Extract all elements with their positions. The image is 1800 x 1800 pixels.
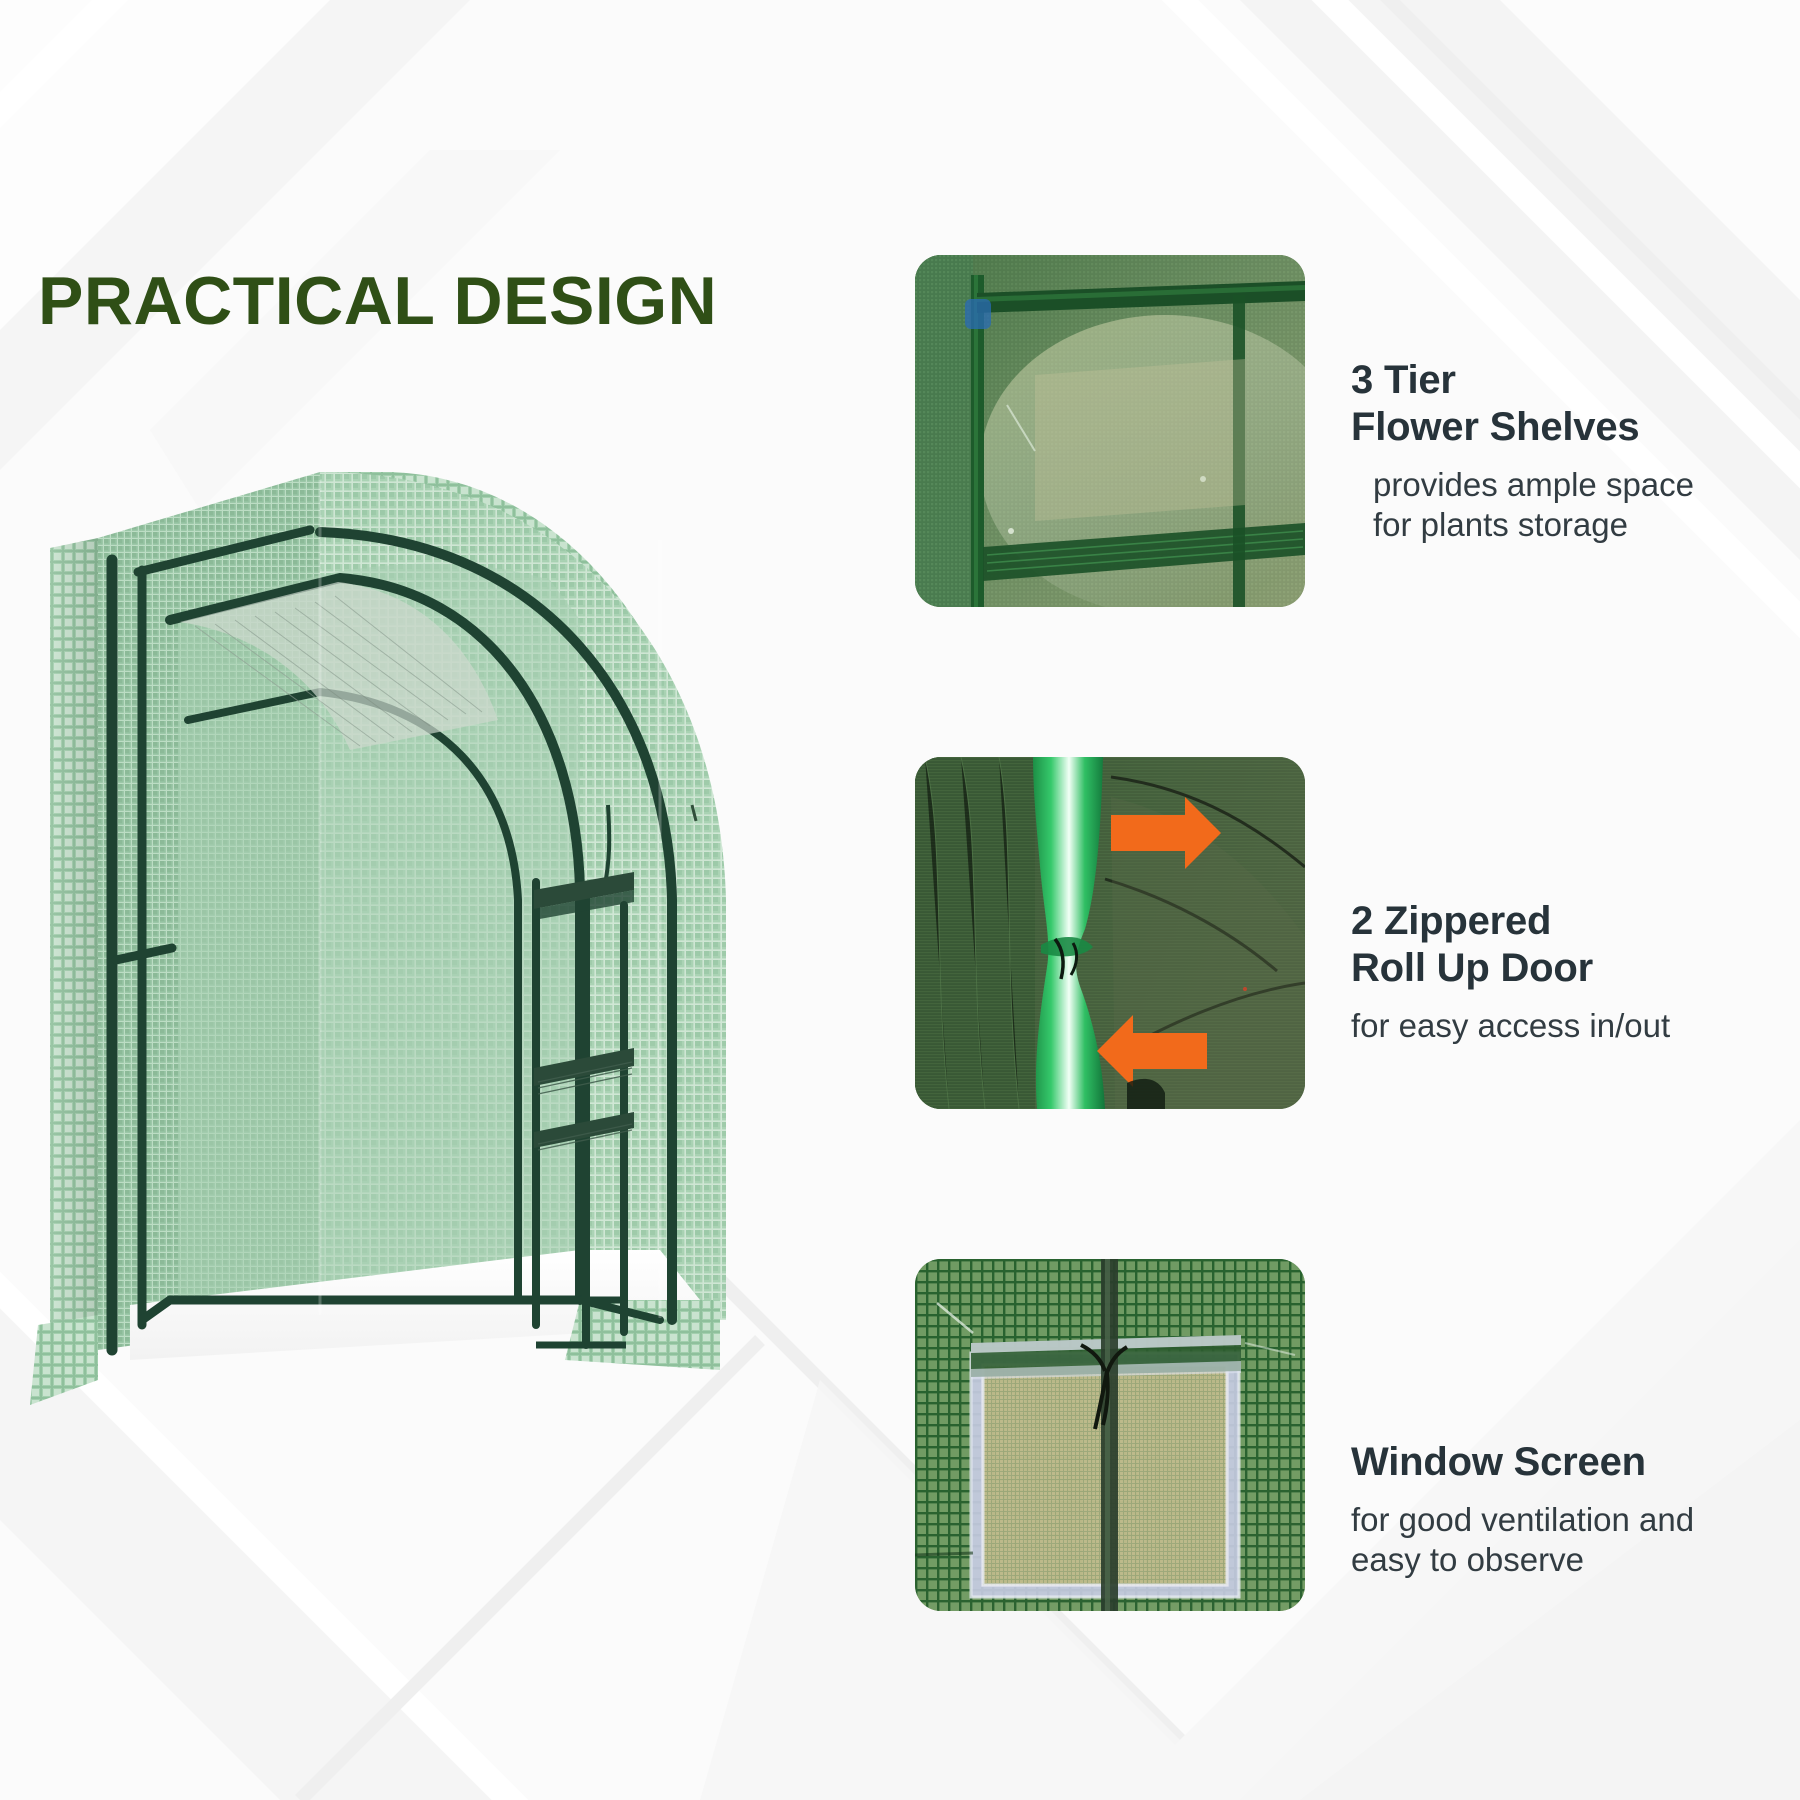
feature-1-sub-line1: provides ample space bbox=[1373, 465, 1771, 505]
feature-2-text: 2 Zippered Roll Up Door for easy access … bbox=[1351, 898, 1771, 1046]
page-title: PRACTICAL DESIGN bbox=[38, 262, 717, 340]
feature-1-heading: 3 Tier Flower Shelves bbox=[1351, 357, 1771, 451]
feature-two-zippered-roll-up-door: 2 Zippered Roll Up Door for easy access … bbox=[915, 757, 1771, 1109]
feature-1-heading-line2: Flower Shelves bbox=[1351, 404, 1771, 451]
feature-2-heading-line2: Roll Up Door bbox=[1351, 945, 1771, 992]
feature-1-text: 3 Tier Flower Shelves provides ample spa… bbox=[1351, 357, 1771, 545]
photo-zippered-roll-up-door bbox=[915, 757, 1305, 1109]
feature-2-sub-line1: for easy access in/out bbox=[1351, 1006, 1771, 1046]
feature-2-subtext: for easy access in/out bbox=[1351, 1006, 1771, 1046]
shelves-photo-svg bbox=[915, 255, 1305, 607]
rollup-door-photo-svg bbox=[915, 757, 1305, 1109]
greenhouse-render-svg bbox=[20, 420, 800, 1430]
feature-3-heading: Window Screen bbox=[1351, 1439, 1771, 1486]
photo-three-tier-flower-shelves bbox=[915, 255, 1305, 607]
feature-window-screen: Window Screen for good ventilation and e… bbox=[915, 1259, 1771, 1611]
feature-3-text: Window Screen for good ventilation and e… bbox=[1351, 1439, 1771, 1580]
feature-3-subtext: for good ventilation and easy to observe bbox=[1351, 1500, 1771, 1581]
feature-1-heading-line1: 3 Tier bbox=[1351, 357, 1771, 404]
window-screen-photo-svg bbox=[915, 1259, 1305, 1611]
photo-window-screen bbox=[915, 1259, 1305, 1611]
cover-left-bottom-flap bbox=[30, 1315, 98, 1405]
product-illustration bbox=[20, 420, 800, 1430]
feature-3-heading-line1: Window Screen bbox=[1351, 1439, 1771, 1486]
feature-2-heading: 2 Zippered Roll Up Door bbox=[1351, 898, 1771, 992]
feature-1-subtext: provides ample space for plants storage bbox=[1373, 465, 1771, 546]
infographic-canvas: PRACTICAL DESIGN bbox=[0, 0, 1800, 1800]
feature-1-sub-line2: for plants storage bbox=[1373, 505, 1771, 545]
feature-3-sub-line2: easy to observe bbox=[1351, 1540, 1771, 1580]
feature-3-sub-line1: for good ventilation and bbox=[1351, 1500, 1771, 1540]
feature-2-heading-line1: 2 Zippered bbox=[1351, 898, 1771, 945]
feature-three-tier-flower-shelves: 3 Tier Flower Shelves provides ample spa… bbox=[915, 255, 1771, 607]
